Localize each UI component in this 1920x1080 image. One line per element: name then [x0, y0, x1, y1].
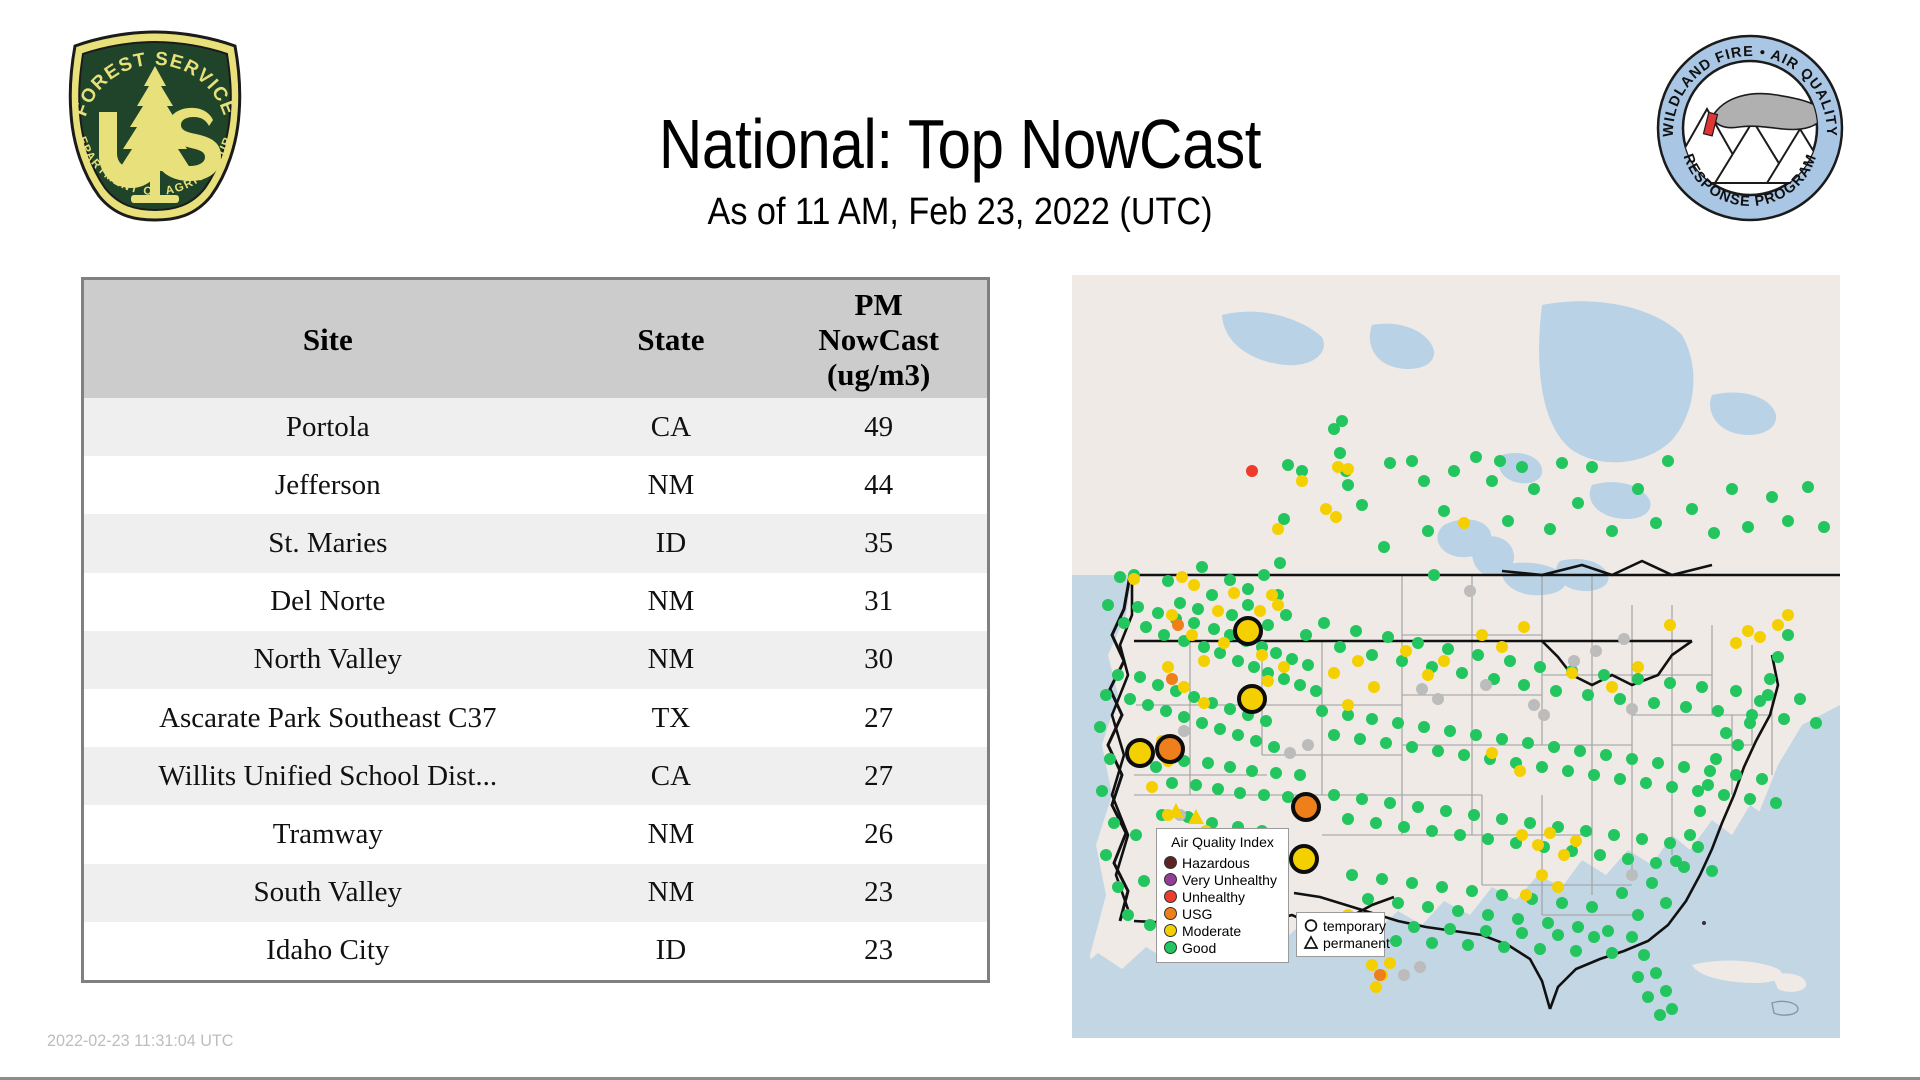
cell-pm-nowcast: 27: [770, 747, 987, 805]
cell-site: Tramway: [84, 805, 572, 863]
column-header-state-line-1: State: [637, 322, 704, 357]
table-row[interactable]: St. Maries ID 35: [84, 514, 987, 572]
aqi-legend-item-hazardous: Hazardous: [1164, 854, 1281, 871]
aqi-legend-item-usg: USG: [1164, 905, 1281, 922]
aqi-legend-item-very-unhealthy: Very Unhealthy: [1164, 871, 1281, 888]
column-header-pm-line-1: PM: [855, 287, 903, 322]
cell-pm-nowcast: 35: [770, 514, 987, 572]
aqi-label-unhealthy: Unhealthy: [1182, 889, 1245, 905]
page-title: National: Top NowCast: [134, 105, 1785, 183]
cell-state: ID: [572, 514, 771, 572]
table-row[interactable]: Tramway NM 26: [84, 805, 987, 863]
aqi-dot-moderate: [1164, 924, 1177, 937]
table-row[interactable]: Willits Unified School Dist... CA 27: [84, 747, 987, 805]
cell-pm-nowcast: 44: [770, 456, 987, 514]
aqi-dot-good: [1164, 941, 1177, 954]
cell-site: Idaho City: [84, 922, 572, 980]
table-row[interactable]: Portola CA 49: [84, 398, 987, 456]
column-header-site-line-1: Site: [303, 322, 353, 357]
column-header-state: State: [572, 280, 771, 398]
cell-pm-nowcast: 49: [770, 398, 987, 456]
footer-timestamp: 2022-02-23 11:31:04 UTC: [47, 1031, 233, 1051]
wfaqrp-logo: WILDLAND FIRE • AIR QUALITY RESPONSE PRO…: [1655, 33, 1845, 223]
cell-state: NM: [572, 805, 771, 863]
cell-pm-nowcast: 23: [770, 864, 987, 922]
cell-site: Jefferson: [84, 456, 572, 514]
aqi-dot-hazardous: [1164, 856, 1177, 869]
aqi-dot-unhealthy: [1164, 890, 1177, 903]
column-header-pm-line-2: NowCast: [818, 322, 939, 357]
top-nowcast-table: Site State PM NowCast (ug/m3) Portola CA: [84, 280, 987, 980]
aqi-legend: Air Quality Index Hazardous Very Unhealt…: [1156, 828, 1289, 963]
cell-state: NM: [572, 456, 771, 514]
cell-state: NM: [572, 631, 771, 689]
slide-root: FOREST SERVICE DEPARTMENT OF AGRICULTURE…: [0, 0, 1920, 1080]
cell-pm-nowcast: 30: [770, 631, 987, 689]
page-subtitle: As of 11 AM, Feb 23, 2022 (UTC): [96, 190, 1824, 234]
aqi-label-usg: USG: [1182, 906, 1212, 922]
page-header: FOREST SERVICE DEPARTMENT OF AGRICULTURE…: [0, 0, 1920, 260]
cell-pm-nowcast: 31: [770, 573, 987, 631]
site-type-item-temporary: temporary: [1303, 917, 1379, 934]
cell-site: St. Maries: [84, 514, 572, 572]
site-type-item-permanent: permanent: [1303, 934, 1379, 951]
highlighted-site-marker: [1291, 846, 1317, 872]
cell-state: CA: [572, 747, 771, 805]
air-quality-map[interactable]: Air Quality Index Hazardous Very Unhealt…: [1072, 275, 1840, 1038]
site-type-label-permanent: permanent: [1323, 935, 1390, 951]
site-type-label-temporary: temporary: [1323, 918, 1386, 934]
cell-pm-nowcast: 23: [770, 922, 987, 980]
aqi-legend-title: Air Quality Index: [1164, 834, 1281, 851]
cell-state: NM: [572, 573, 771, 631]
table-header: Site State PM NowCast (ug/m3): [84, 280, 987, 398]
top-nowcast-table-container: Site State PM NowCast (ug/m3) Portola CA: [81, 277, 990, 983]
column-header-pm-line-3: (ug/m3): [827, 357, 930, 392]
cell-site: Ascarate Park Southeast C37: [84, 689, 572, 747]
table-row[interactable]: Ascarate Park Southeast C37 TX 27: [84, 689, 987, 747]
aqi-legend-item-good: Good: [1164, 939, 1281, 956]
highlighted-site-marker: [1157, 736, 1183, 762]
cell-state: ID: [572, 922, 771, 980]
cell-state: CA: [572, 398, 771, 456]
aqi-label-hazardous: Hazardous: [1182, 855, 1250, 871]
column-header-site: Site: [84, 280, 572, 398]
circle-outline-icon: [1303, 918, 1319, 933]
aqi-label-good: Good: [1182, 940, 1216, 956]
site-type-legend: temporary permanent: [1296, 912, 1385, 957]
highlighted-site-marker: [1293, 794, 1319, 820]
table-row[interactable]: North Valley NM 30: [84, 631, 987, 689]
table-row[interactable]: Jefferson NM 44: [84, 456, 987, 514]
column-header-pm-nowcast: PM NowCast (ug/m3): [770, 280, 987, 398]
cell-site: South Valley: [84, 864, 572, 922]
aqi-dot-very-unhealthy: [1164, 873, 1177, 886]
aqi-label-very-unhealthy: Very Unhealthy: [1182, 872, 1277, 888]
cell-pm-nowcast: 27: [770, 689, 987, 747]
table-row[interactable]: South Valley NM 23: [84, 864, 987, 922]
highlighted-site-marker: [1239, 686, 1265, 712]
triangle-outline-icon: [1303, 935, 1319, 950]
cell-site: North Valley: [84, 631, 572, 689]
aqi-label-moderate: Moderate: [1182, 923, 1241, 939]
cell-state: NM: [572, 864, 771, 922]
table-row[interactable]: Del Norte NM 31: [84, 573, 987, 631]
aqi-legend-item-unhealthy: Unhealthy: [1164, 888, 1281, 905]
cell-state: TX: [572, 689, 771, 747]
highlighted-site-marker: [1127, 740, 1153, 766]
cell-pm-nowcast: 26: [770, 805, 987, 863]
cell-site: Willits Unified School Dist...: [84, 747, 572, 805]
cell-site: Portola: [84, 398, 572, 456]
highlighted-site-marker: [1235, 618, 1261, 644]
aqi-dot-usg: [1164, 907, 1177, 920]
aqi-legend-item-moderate: Moderate: [1164, 922, 1281, 939]
table-row[interactable]: Idaho City ID 23: [84, 922, 987, 980]
cell-site: Del Norte: [84, 573, 572, 631]
table-body: Portola CA 49 Jefferson NM 44 St. Maries…: [84, 398, 987, 980]
table-header-row: Site State PM NowCast (ug/m3): [84, 280, 987, 398]
